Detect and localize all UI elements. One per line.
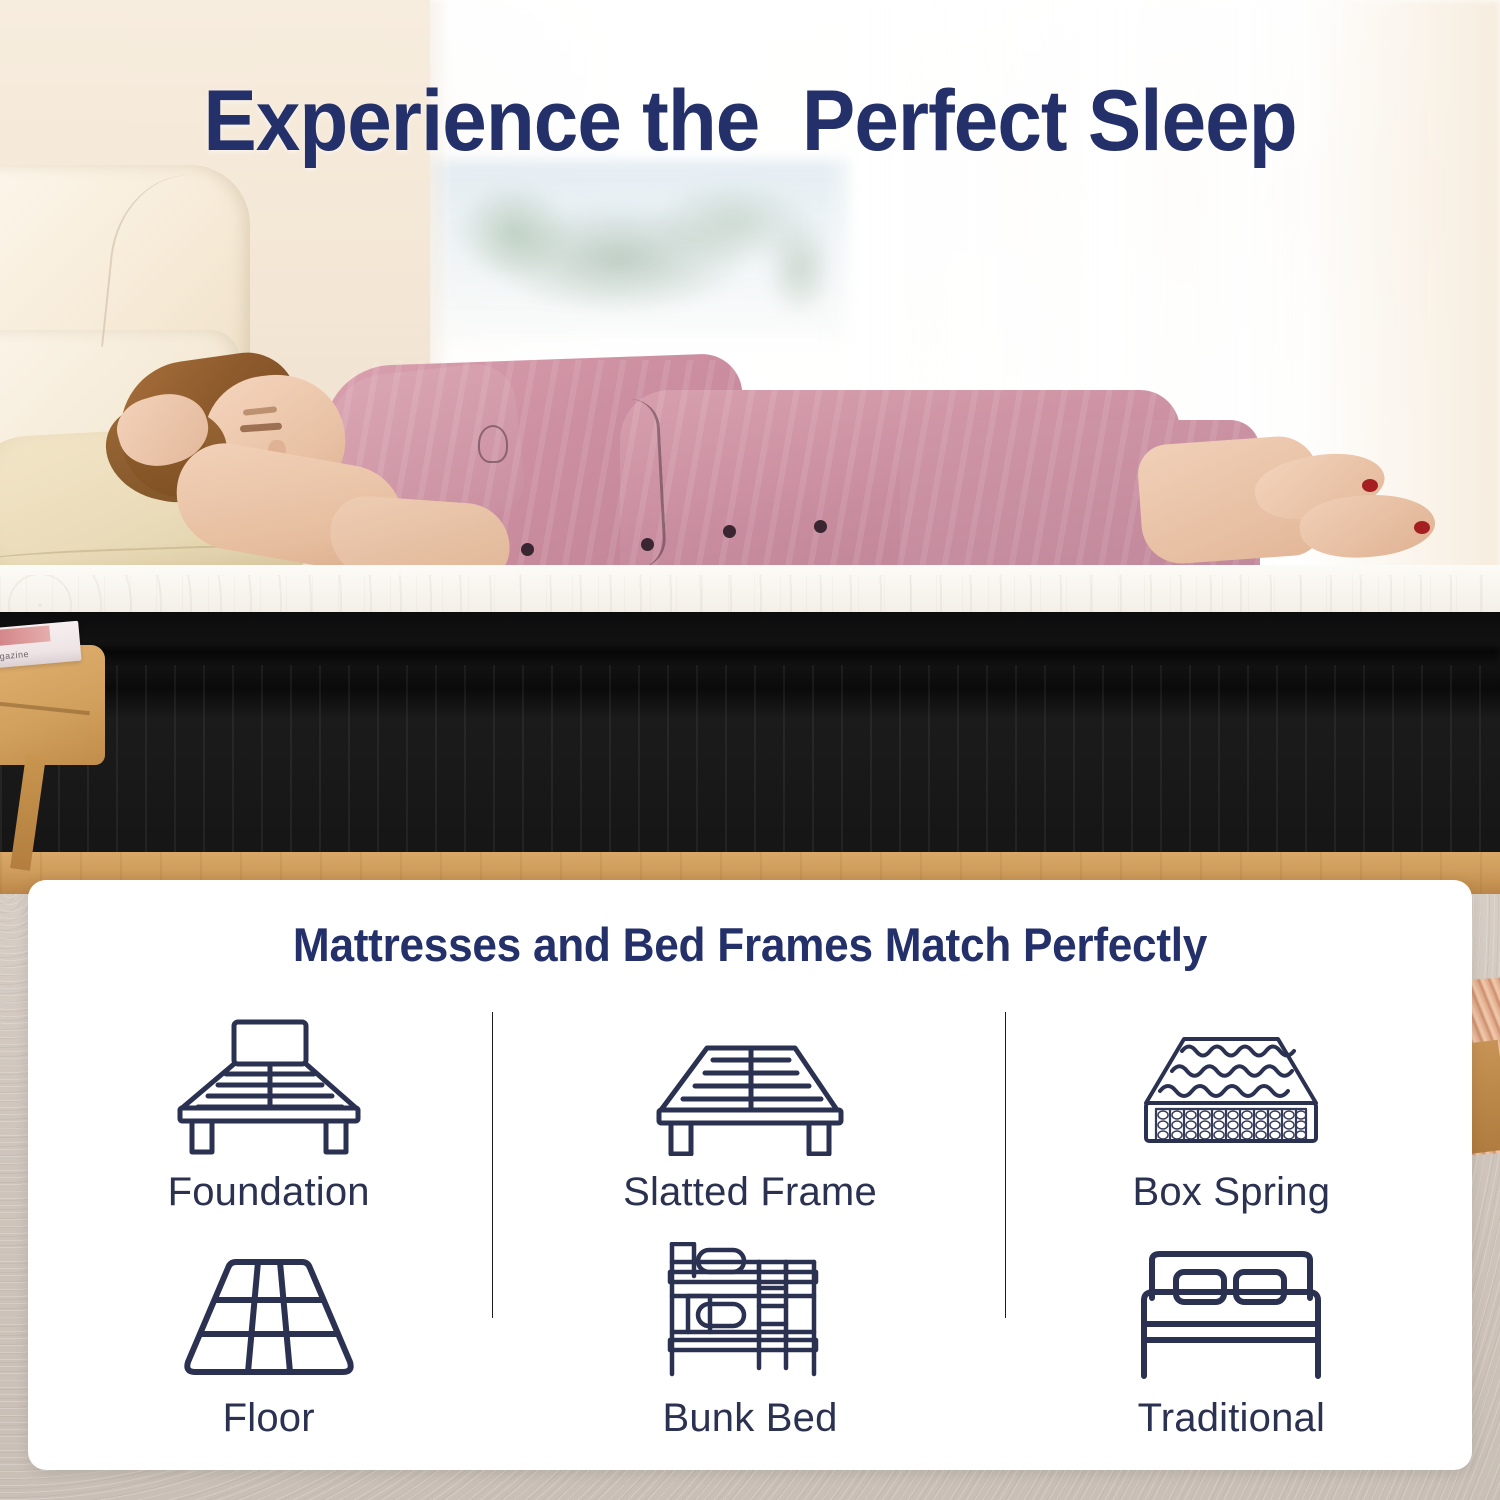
product-marketing-image: magazine Experience the Perfect Sleep Ma… bbox=[0, 0, 1500, 1500]
cell-label: Slatted Frame bbox=[623, 1170, 877, 1215]
cell-label: Box Spring bbox=[1132, 1170, 1330, 1215]
compatibility-grid: Foundation Slatted Frame bbox=[28, 998, 1472, 1450]
grid-cell-foundation: Foundation bbox=[28, 998, 509, 1224]
box-spring-mattress-icon bbox=[1126, 1016, 1336, 1156]
toenail bbox=[1362, 479, 1378, 492]
grid-cell-traditional: Traditional bbox=[991, 1224, 1472, 1450]
foundation-bed-frame-icon bbox=[164, 1016, 374, 1156]
cell-label: Bunk Bed bbox=[662, 1396, 837, 1441]
cell-label: Traditional bbox=[1138, 1396, 1325, 1441]
pajama-button bbox=[814, 520, 827, 533]
mattress-ribbing bbox=[0, 665, 1500, 865]
floor-tiles-icon bbox=[174, 1242, 364, 1382]
compatibility-card: Mattresses and Bed Frames Match Perfectl… bbox=[28, 880, 1472, 1470]
grid-cell-box-spring: Box Spring bbox=[991, 998, 1472, 1224]
grid-cell-slatted-frame: Slatted Frame bbox=[509, 998, 990, 1224]
page-title: Experience the Perfect Sleep bbox=[53, 78, 1448, 164]
cell-label: Foundation bbox=[168, 1170, 370, 1215]
pajama-button bbox=[521, 543, 534, 556]
card-title: Mattresses and Bed Frames Match Perfectl… bbox=[71, 917, 1428, 972]
grid-cell-bunk-bed: Bunk Bed bbox=[509, 1224, 990, 1450]
slatted-frame-icon bbox=[645, 1016, 855, 1156]
toenail bbox=[1414, 521, 1430, 534]
bunk-bed-icon bbox=[662, 1242, 837, 1382]
window-outside-view bbox=[430, 160, 850, 340]
pajama-button bbox=[723, 525, 736, 538]
pajama-button bbox=[641, 538, 654, 551]
pajama-embroidery bbox=[478, 425, 508, 463]
cell-label: Floor bbox=[223, 1396, 315, 1441]
traditional-bed-icon bbox=[1136, 1242, 1326, 1382]
grid-cell-floor: Floor bbox=[28, 1224, 509, 1450]
